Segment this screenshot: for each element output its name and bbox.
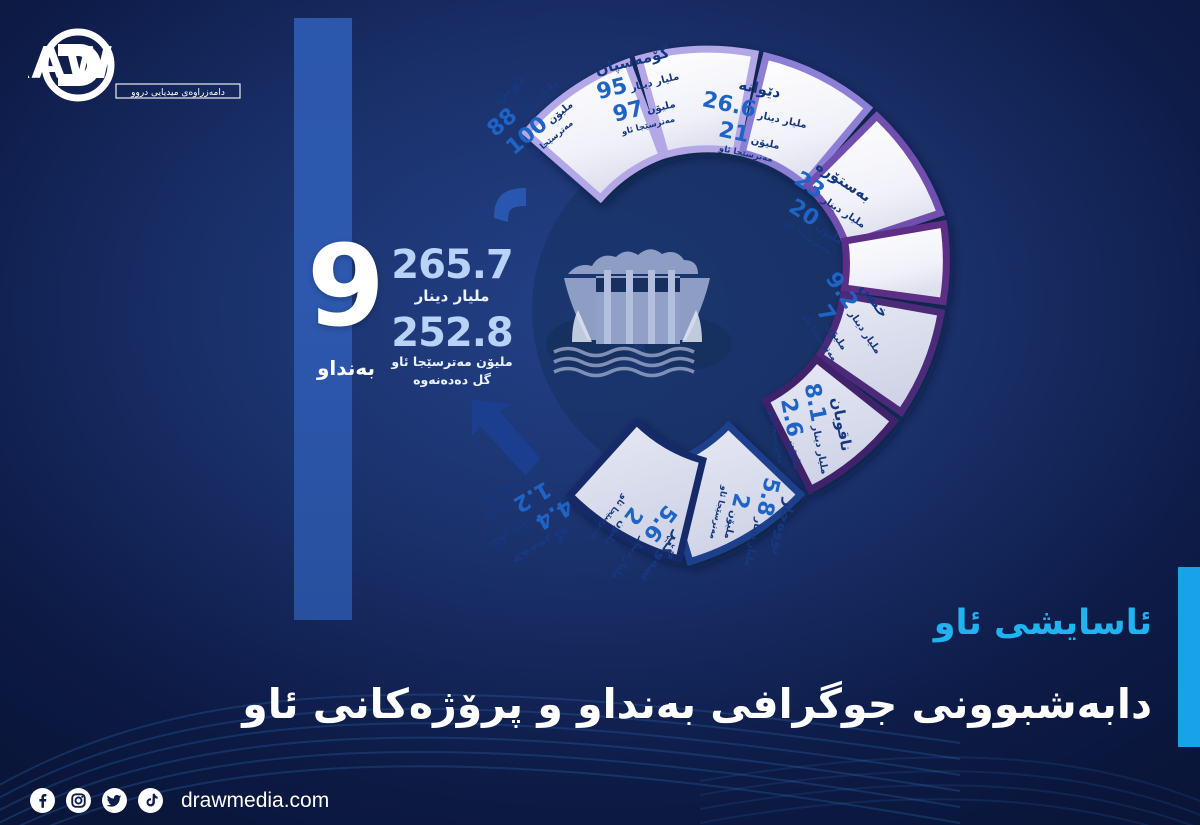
accent-bar-right <box>1178 567 1200 747</box>
infographic-canvas: RAW دامەزراوەی میدیایی دروو 9 بەنداو 265… <box>0 0 1200 825</box>
headline-title: دابەشبوونی جوگرافی بەنداو و پرۆژەکانی ئا… <box>242 680 1152 728</box>
draw-media-logo[interactable]: RAW دامەزراوەی میدیایی دروو <box>28 26 278 104</box>
footer-bar: drawmedia.com <box>30 788 329 813</box>
twitter-icon[interactable] <box>102 788 127 813</box>
segment-khins[interactable] <box>845 224 947 301</box>
tiktok-icon[interactable] <box>138 788 163 813</box>
bendaw-count: 9 <box>300 238 392 337</box>
arrow-top-icon <box>486 182 538 226</box>
svg-text:RAW: RAW <box>28 38 114 89</box>
instagram-icon[interactable] <box>66 788 91 813</box>
dam-icon <box>542 248 732 388</box>
bendaw-count-label: بەنداو <box>296 356 396 380</box>
headline-subtitle: ئاسایشی ئاو <box>934 603 1152 643</box>
website-url[interactable]: drawmedia.com <box>181 789 329 813</box>
logo-subtitle: دامەزراوەی میدیایی دروو <box>130 88 225 98</box>
arrow-up-icon <box>466 396 544 480</box>
facebook-icon[interactable] <box>30 788 55 813</box>
